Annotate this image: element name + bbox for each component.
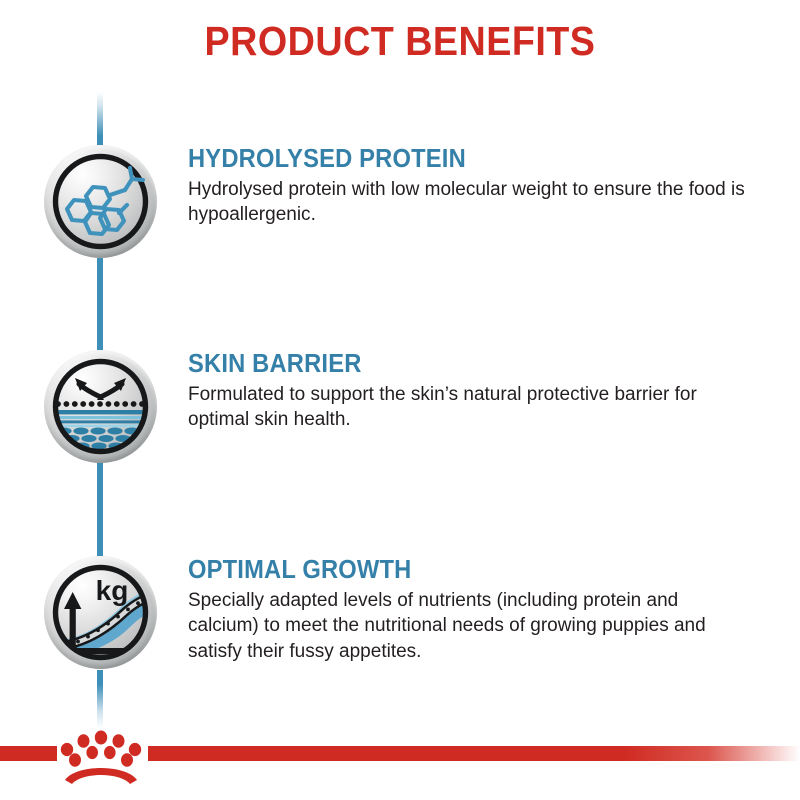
- timeline-connector-2: [97, 462, 103, 562]
- benefit-body: Specially adapted levels of nutrients (i…: [188, 588, 751, 665]
- timeline-connector-1: [97, 258, 103, 354]
- molecule-icon: [44, 145, 157, 258]
- page-title: PRODUCT BENEFITS: [32, 18, 768, 65]
- growth-unit-label: kg: [96, 575, 129, 606]
- product-benefits-page: PRODUCT BENEFITS: [0, 0, 800, 800]
- molecule-icon-glyph: [44, 145, 157, 258]
- skin-barrier-icon-glyph: [44, 350, 157, 463]
- benefit-text-block: SKIN BARRIER Formulated to support the s…: [188, 350, 768, 433]
- benefit-body: Formulated to support the skin’s natural…: [188, 382, 751, 433]
- benefit-heading: OPTIMAL GROWTH: [188, 556, 727, 585]
- benefit-body: Hydrolysed protein with low molecular we…: [188, 177, 751, 228]
- footer-bar-right: [148, 746, 800, 761]
- benefit-text-block: OPTIMAL GROWTH Specially adapted levels …: [188, 556, 768, 665]
- growth-weight-icon: kg: [44, 556, 157, 669]
- footer-bar-left: [0, 746, 57, 761]
- benefit-heading: SKIN BARRIER: [188, 350, 727, 379]
- skin-barrier-icon: [44, 350, 157, 463]
- benefit-heading: HYDROLYSED PROTEIN: [188, 145, 727, 174]
- benefit-text-block: HYDROLYSED PROTEIN Hydrolysed protein wi…: [188, 145, 768, 228]
- growth-weight-icon-glyph: kg: [44, 556, 157, 669]
- royal-canin-crown-logo: [52, 728, 150, 786]
- footer: [0, 714, 800, 800]
- timeline-connector-top: [97, 92, 103, 150]
